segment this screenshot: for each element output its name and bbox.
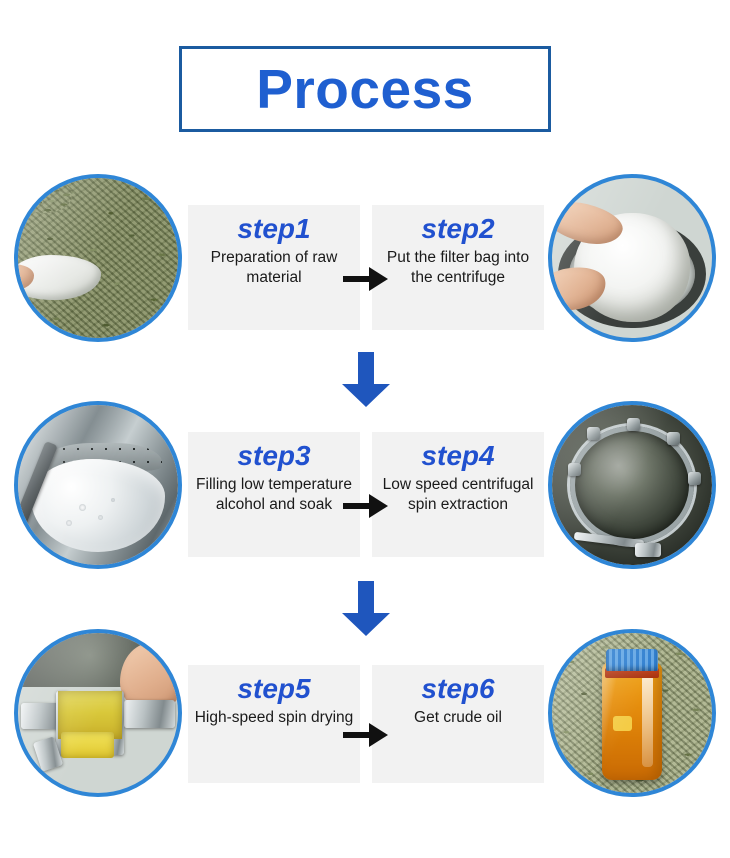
step-label-1: step1: [188, 214, 360, 245]
step-panel-4: step4 Low speed centrifugal spin extract…: [372, 432, 544, 557]
step-label-5: step5: [188, 674, 360, 705]
bolt: [568, 463, 581, 476]
arrow-down-icon: [340, 352, 392, 408]
hands-placing-white-filter-bag-into-centrifuge-image: [552, 178, 712, 338]
lid-handle: [635, 543, 661, 557]
step-image-4: [548, 401, 716, 569]
process-row-1: step1 Preparation of raw material step2 …: [0, 170, 730, 350]
bolt: [587, 427, 600, 440]
step-image-5: [14, 629, 182, 797]
centrifuge-drum-filled-with-alcohol-foam-image: [18, 405, 178, 565]
bottle-highlight: [642, 675, 653, 768]
step-label-6: step6: [372, 674, 544, 705]
process-row-3: step5 High-speed spin drying step6 Get c…: [0, 625, 730, 805]
step-description-3: Filling low temperature alcohol and soak: [188, 475, 360, 516]
gloved-hand-with-dried-green-herb-image: [18, 178, 178, 338]
step-panel-1: step1 Preparation of raw material: [188, 205, 360, 330]
step-panel-2: step2 Put the filter bag into the centri…: [372, 205, 544, 330]
step-image-2: [548, 174, 716, 342]
step-description-6: Get crude oil: [372, 708, 544, 728]
step-image-1: [14, 174, 182, 342]
step-description-4: Low speed centrifugal spin extraction: [372, 475, 544, 516]
pipe-assembly-right: [124, 700, 175, 728]
bolt: [627, 418, 640, 431]
closed-centrifuge-lid-with-viewport-image: [552, 405, 712, 565]
arrow-right-icon: [343, 489, 389, 523]
oil-bottle: [602, 662, 663, 780]
bolt: [688, 472, 701, 485]
step-label-4: step4: [372, 441, 544, 472]
step-label-3: step3: [188, 441, 360, 472]
page-title: Process: [256, 62, 474, 117]
page-title-box: Process: [179, 46, 551, 132]
step-label-2: step2: [372, 214, 544, 245]
bolt: [667, 432, 680, 445]
page-title-wrapper: Process: [0, 46, 730, 132]
step-panel-5: step5 High-speed spin drying: [188, 665, 360, 783]
arrow-right-icon: [343, 262, 389, 296]
arrow-down-icon: [340, 581, 392, 637]
oil-highlight-blob: [613, 716, 632, 730]
step-panel-3: step3 Filling low temperature alcohol an…: [188, 432, 360, 557]
stainless-sight-glass-with-yellow-oil-image: [18, 633, 178, 793]
sight-glass-oil-lower: [61, 732, 114, 758]
step-description-5: High-speed spin drying: [188, 708, 360, 728]
bottle-of-amber-crude-oil-on-dried-herb-image: [552, 633, 712, 793]
bubble: [111, 498, 115, 502]
process-row-2: step3 Filling low temperature alcohol an…: [0, 397, 730, 577]
bottle-cap: [606, 649, 657, 671]
step-description-1: Preparation of raw material: [188, 248, 360, 289]
step-description-2: Put the filter bag into the centrifuge: [372, 248, 544, 289]
arrow-right-icon: [343, 718, 389, 752]
bubble: [79, 504, 86, 511]
step-image-3: [14, 401, 182, 569]
step-image-6: [548, 629, 716, 797]
step-panel-6: step6 Get crude oil: [372, 665, 544, 783]
